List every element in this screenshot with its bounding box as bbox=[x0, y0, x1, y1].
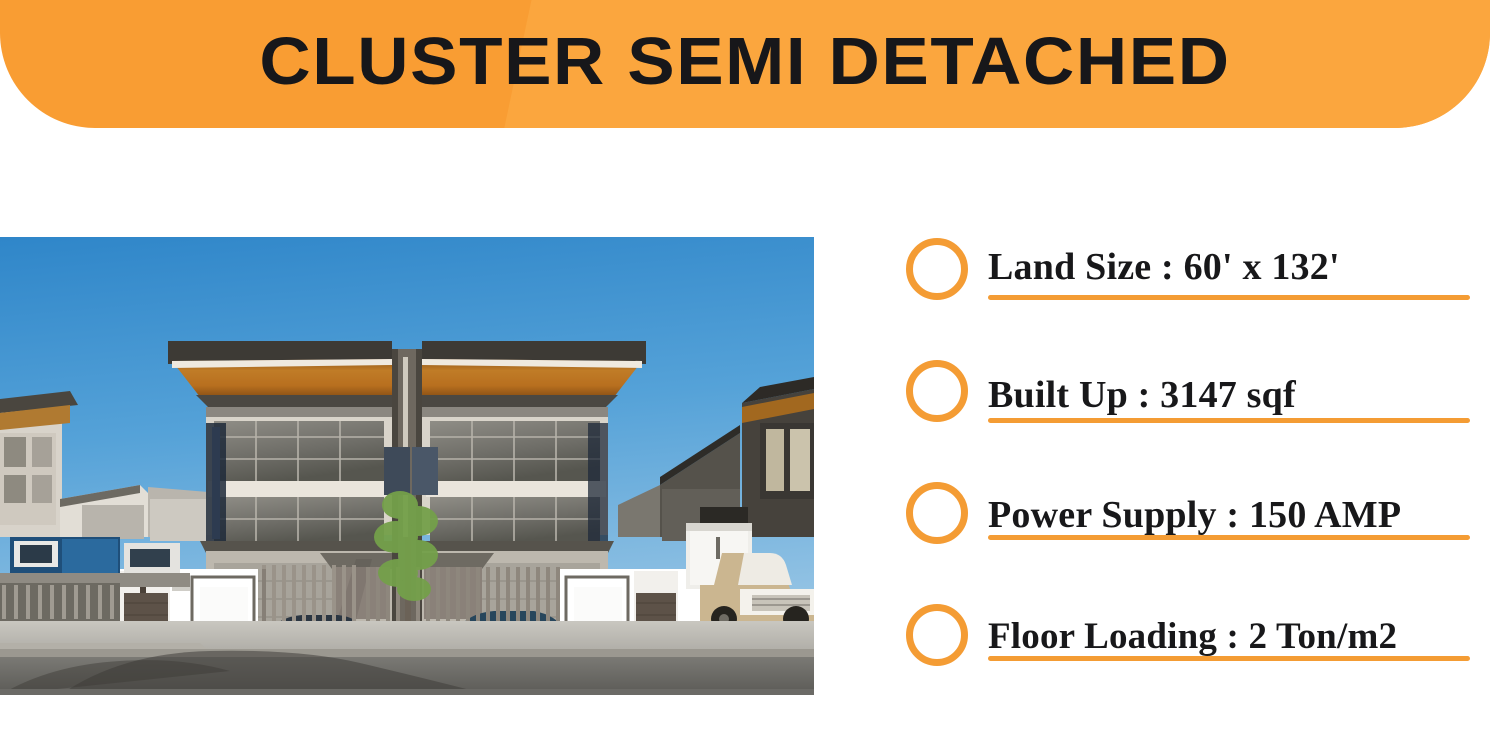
header-banner: CLUSTER SEMI DETACHED bbox=[0, 0, 1490, 128]
bullet-circle-icon bbox=[906, 482, 968, 544]
building-render-illustration bbox=[0, 237, 814, 695]
spec-list: Land Size : 60' x 132' Built Up : 3147 s… bbox=[900, 230, 1480, 712]
spec-label: Built Up : 3147 sqf bbox=[988, 352, 1470, 414]
page-title: CLUSTER SEMI DETACHED bbox=[0, 0, 1490, 128]
bullet-circle-icon bbox=[906, 238, 968, 300]
ground bbox=[0, 621, 814, 695]
spec-body: Land Size : 60' x 132' bbox=[988, 230, 1470, 300]
spec-row-land-size: Land Size : 60' x 132' bbox=[900, 230, 1480, 352]
building-photo bbox=[0, 237, 814, 695]
bullet-circle-icon bbox=[906, 604, 968, 666]
spec-label: Land Size : 60' x 132' bbox=[988, 230, 1470, 286]
spec-body: Power Supply : 150 AMP bbox=[988, 474, 1470, 540]
spec-body: Floor Loading : 2 Ton/m2 bbox=[988, 596, 1470, 661]
spec-row-floor-loading: Floor Loading : 2 Ton/m2 bbox=[900, 596, 1480, 712]
spec-body: Built Up : 3147 sqf bbox=[988, 352, 1470, 423]
spec-row-power-supply: Power Supply : 150 AMP bbox=[900, 474, 1480, 596]
bullet-circle-icon bbox=[906, 360, 968, 422]
spec-underline bbox=[988, 418, 1470, 423]
spec-underline bbox=[988, 295, 1470, 300]
spec-label: Floor Loading : 2 Ton/m2 bbox=[988, 596, 1470, 655]
spec-row-built-up: Built Up : 3147 sqf bbox=[900, 352, 1480, 474]
spec-label: Power Supply : 150 AMP bbox=[988, 474, 1470, 534]
